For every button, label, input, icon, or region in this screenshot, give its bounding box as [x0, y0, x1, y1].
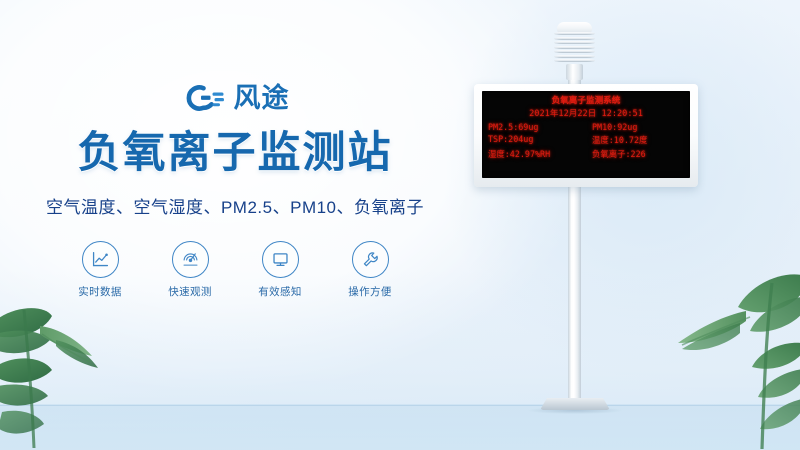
reading-tsp: TSP:204ug: [488, 134, 592, 146]
led-display-panel: 负氧离子监测系统 2021年12月22日 12:20:51 PM2.5:69ug…: [474, 84, 698, 187]
pole-base-plate: [540, 398, 610, 410]
green-leaf-plant-right: [654, 265, 800, 450]
green-leaf-plant-left: [0, 290, 144, 450]
reading-humid: 湿度:42.97%RH: [488, 148, 592, 160]
reading-pm25: PM2.5:69ug: [488, 122, 592, 132]
louvered-radiation-shield-icon: [551, 22, 598, 78]
led-title: 负氧离子监测系统: [482, 94, 690, 106]
reading-anion: 负氧离子:226: [592, 148, 685, 160]
led-screen: 负氧离子监测系统 2021年12月22日 12:20:51 PM2.5:69ug…: [482, 91, 690, 178]
sensor-neck: [566, 64, 583, 80]
sensor-louvres: [554, 32, 595, 65]
reading-temp: 温度:10.72度: [592, 134, 685, 146]
led-readings: PM2.5:69ug PM10:92ug TSP:204ug 温度:10.72度…: [482, 122, 690, 160]
reading-pm10: PM10:92ug: [592, 122, 685, 132]
led-datetime: 2021年12月22日 12:20:51: [482, 107, 690, 119]
promo-banner: 风途 负氧离子监测站 空气温度、空气湿度、PM2.5、PM10、负氧离子 实时数…: [0, 0, 800, 450]
